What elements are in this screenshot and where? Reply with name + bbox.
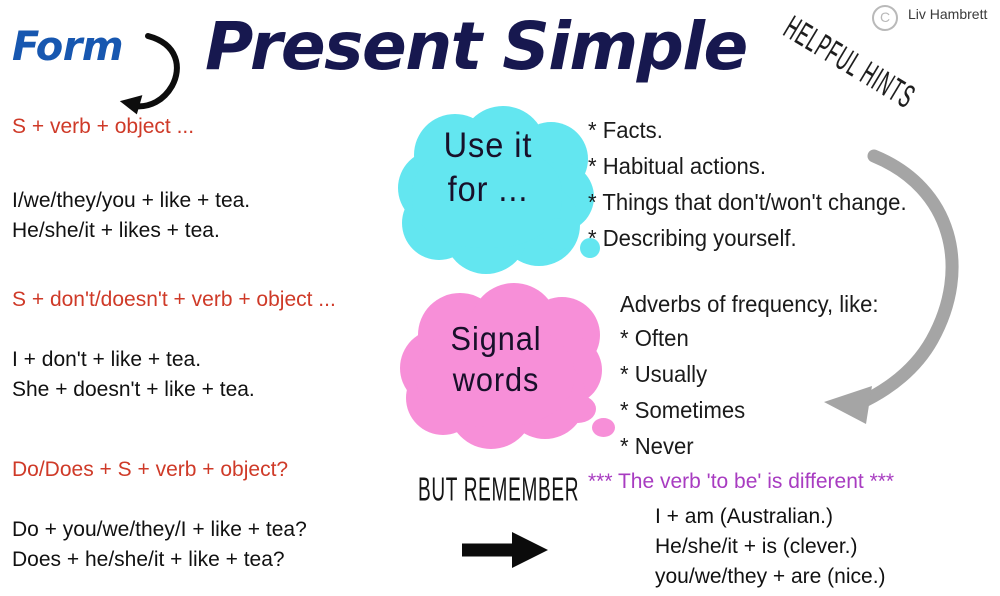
example-line: I/we/they/you + like + tea.	[12, 186, 250, 216]
author-credit: Liv Hambrett	[908, 6, 987, 22]
thought-bubble-trail-large	[543, 218, 575, 250]
form-heading: Form	[12, 24, 123, 70]
infographic-canvas: Form Present Simple C Liv Hambrett HELPF…	[0, 0, 1000, 596]
use-it-for-label: Use it for ...	[398, 124, 578, 212]
list-item: * Often	[620, 320, 750, 356]
adverbs-list: * Often * Usually * Sometimes * Never	[620, 320, 750, 464]
example-line: you/we/they + are (nice.)	[655, 562, 886, 592]
form-curved-arrow	[118, 36, 177, 114]
form-rule-question: Do/Does + S + verb + object?	[12, 458, 288, 482]
example-line: I + don't + like + tea.	[12, 345, 255, 375]
form-example-negative: I + don't + like + tea. She + doesn't + …	[12, 345, 255, 405]
to-be-examples: I + am (Australian.) He/she/it + is (cle…	[655, 502, 886, 592]
list-item: * Never	[620, 428, 750, 464]
page-title: Present Simple	[205, 8, 747, 85]
example-line: She + doesn't + like + tea.	[12, 375, 255, 405]
list-item: * Habitual actions.	[588, 148, 920, 184]
use-it-for-line1: Use it	[404, 124, 571, 168]
form-rule-negative: S + don't/doesn't + verb + object ...	[12, 288, 336, 312]
list-item: * Facts.	[588, 112, 920, 148]
uses-list: * Facts. * Habitual actions. * Things th…	[588, 112, 920, 256]
form-rule-affirmative: S + verb + object ...	[12, 115, 194, 139]
adverbs-heading: Adverbs of frequency, like:	[620, 286, 889, 322]
list-item: * Usually	[620, 356, 750, 392]
use-it-for-line2: for ...	[404, 168, 571, 212]
list-item: * Things that don't/won't change.	[588, 184, 920, 220]
example-line: Does + he/she/it + like + tea?	[12, 545, 307, 575]
to-be-note-title: *** The verb 'to be' is different ***	[588, 470, 894, 494]
example-line: I + am (Australian.)	[655, 502, 886, 532]
example-line: He/she/it + likes + tea.	[12, 216, 250, 246]
but-remember-arrow	[462, 532, 548, 568]
form-example-affirmative: I/we/they/you + like + tea. He/she/it + …	[12, 186, 250, 246]
form-example-question: Do + you/we/they/I + like + tea? Does + …	[12, 515, 307, 575]
signal-bubble-trail-small	[592, 418, 615, 437]
signal-words-line1: Signal	[412, 318, 579, 359]
example-line: He/she/it + is (clever.)	[655, 532, 886, 562]
list-item: * Sometimes	[620, 392, 750, 428]
list-item: * Describing yourself.	[588, 220, 920, 256]
signal-words-line2: words	[412, 359, 579, 400]
signal-words-label: Signal words	[406, 318, 586, 401]
copyright-icon: C	[872, 5, 898, 31]
example-line: Do + you/we/they/I + like + tea?	[12, 515, 307, 545]
helpful-hints-text: HELPFUL HINTS	[777, 9, 921, 116]
